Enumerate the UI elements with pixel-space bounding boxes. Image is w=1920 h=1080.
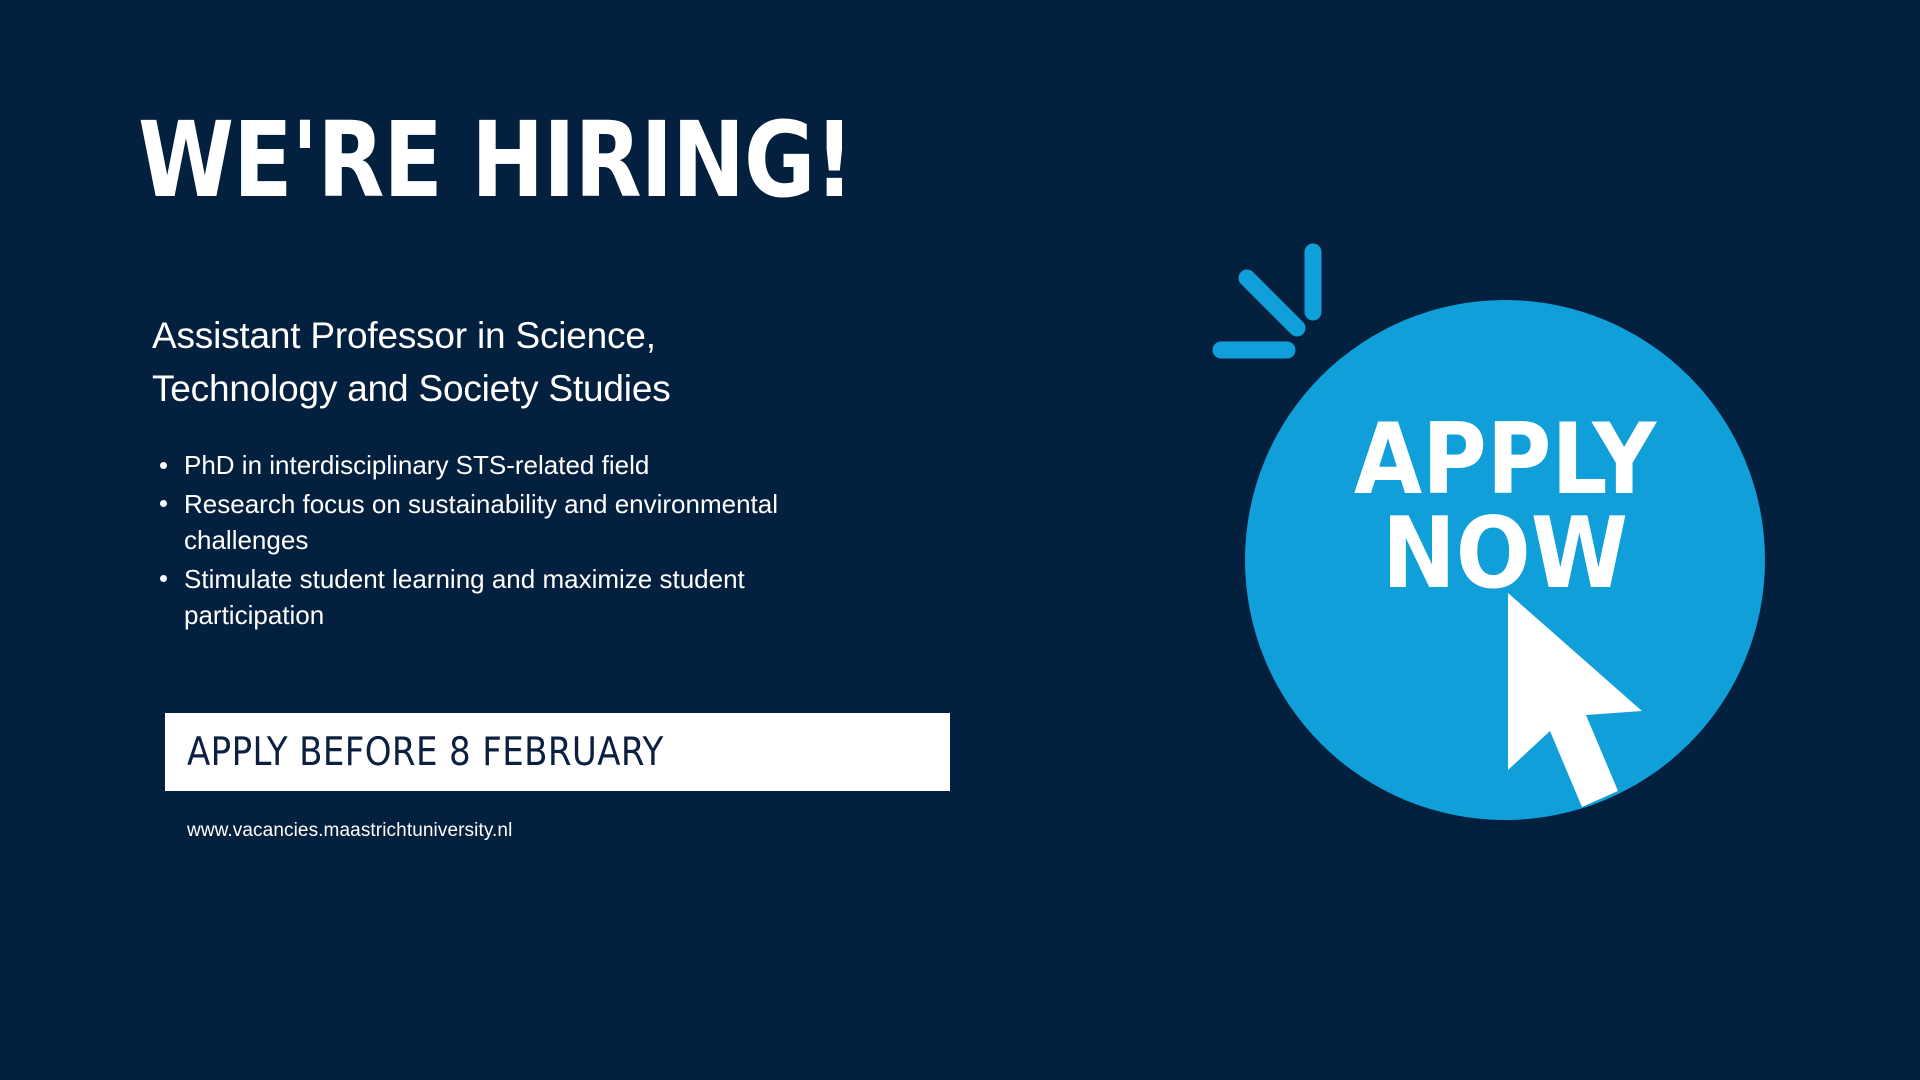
bullet-dot-icon [160, 575, 167, 582]
poster-left-column: WE'RE HIRING! Assistant Professor in Sci… [0, 0, 1100, 1080]
apply-now-badge[interactable]: APPLY NOW [1240, 295, 1770, 825]
job-title-line-2: Technology and Society Studies [152, 363, 812, 416]
list-item-label: Stimulate student learning and maximize … [184, 564, 745, 630]
apply-deadline-label: APPLY BEFORE 8 FEBRUARY [187, 730, 664, 775]
click-burst-icon [1205, 240, 1375, 390]
job-title-line-1: Assistant Professor in Science, [152, 310, 812, 363]
mouse-cursor-icon [1490, 585, 1690, 815]
list-item-label: Research focus on sustainability and env… [184, 489, 778, 555]
hiring-poster: WE'RE HIRING! Assistant Professor in Sci… [0, 0, 1920, 1080]
list-item-label: PhD in interdisciplinary STS-related fie… [184, 450, 649, 480]
bullet-dot-icon [160, 500, 167, 507]
list-item: Research focus on sustainability and env… [156, 487, 806, 559]
requirements-list: PhD in interdisciplinary STS-related fie… [156, 448, 806, 636]
bullet-dot-icon [160, 462, 167, 469]
apply-now-line-1: APPLY [1240, 413, 1770, 507]
list-item: PhD in interdisciplinary STS-related fie… [156, 448, 806, 484]
list-item: Stimulate student learning and maximize … [156, 562, 806, 634]
website-url[interactable]: www.vacancies.maastrichtuniversity.nl [187, 820, 512, 842]
apply-now-label: APPLY NOW [1240, 413, 1770, 601]
apply-deadline-banner[interactable]: APPLY BEFORE 8 FEBRUARY [165, 713, 950, 791]
job-title: Assistant Professor in Science, Technolo… [152, 310, 812, 415]
page-title: WE'RE HIRING! [138, 108, 853, 212]
